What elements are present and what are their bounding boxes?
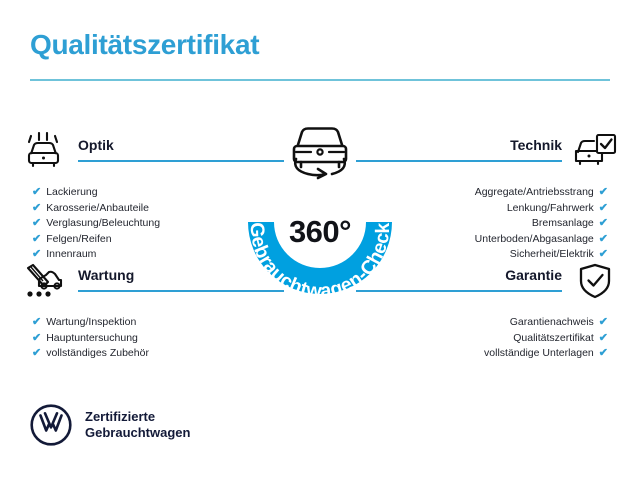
check-icon: ✔ xyxy=(32,187,41,198)
list-item-label: Hauptuntersuchung xyxy=(46,331,138,347)
shield-check-icon xyxy=(572,262,618,302)
page-title: Qualitätszertifikat xyxy=(30,30,610,61)
footer-text: Zertifizierte Gebrauchtwagen xyxy=(85,409,190,441)
check-icon: ✔ xyxy=(32,348,41,359)
check-icon: ✔ xyxy=(32,234,41,245)
list-item-label: Bremsanlage xyxy=(532,216,594,232)
car-shine-icon xyxy=(22,132,68,172)
list-item: ✔Hauptuntersuchung xyxy=(32,331,284,347)
badge-degrees-label: 360° xyxy=(222,216,418,247)
footer: Zertifizierte Gebrauchtwagen xyxy=(30,404,190,446)
list-item-label: Lenkung/Fahrwerk xyxy=(507,201,594,217)
list-item-label: Innenraum xyxy=(46,247,96,263)
check-icon: ✔ xyxy=(599,203,608,214)
check-icon: ✔ xyxy=(32,218,41,229)
list-item: ✔vollständige Unterlagen xyxy=(356,346,608,362)
list-item-label: Lackierung xyxy=(46,185,97,201)
list-item: ✔Qualitätszertifikat xyxy=(356,331,608,347)
list-item: ✔vollständiges Zubehör xyxy=(32,346,284,362)
list-item-label: Qualitätszertifikat xyxy=(513,331,594,347)
check-icon: ✔ xyxy=(32,333,41,344)
360-check-badge: Gebrauchtwagen-Check 360° xyxy=(222,118,418,318)
check-icon: ✔ xyxy=(599,218,608,229)
car-wrench-icon xyxy=(22,262,68,302)
check-icon: ✔ xyxy=(599,348,608,359)
car-checkbox-icon xyxy=(572,132,618,172)
check-icon: ✔ xyxy=(599,249,608,260)
check-icon: ✔ xyxy=(32,203,41,214)
list-item-label: Wartung/Inspektion xyxy=(46,315,136,331)
section-garantie-list: ✔Garantienachweis ✔Qualitätszertifikat ✔… xyxy=(356,315,618,362)
list-item-label: Aggregate/Antriebsstrang xyxy=(475,185,594,201)
list-item-label: Unterboden/Abgasanlage xyxy=(475,232,594,248)
list-item-label: Sicherheit/Elektrik xyxy=(510,247,594,263)
list-item-label: vollständige Unterlagen xyxy=(484,346,594,362)
check-icon: ✔ xyxy=(599,187,608,198)
check-icon: ✔ xyxy=(599,333,608,344)
check-icon: ✔ xyxy=(599,317,608,328)
list-item-label: vollständiges Zubehör xyxy=(46,346,149,362)
check-icon: ✔ xyxy=(32,317,41,328)
section-wartung-list: ✔Wartung/Inspektion ✔Hauptuntersuchung ✔… xyxy=(22,315,284,362)
car-rotation-icon xyxy=(284,118,356,180)
list-item-label: Garantienachweis xyxy=(510,315,594,331)
check-icon: ✔ xyxy=(32,249,41,260)
vw-roundel-logo xyxy=(30,404,72,446)
list-item-label: Karosserie/Anbauteile xyxy=(46,201,149,217)
header: Qualitätszertifikat xyxy=(30,30,610,81)
title-divider xyxy=(30,79,610,81)
check-icon: ✔ xyxy=(599,234,608,245)
list-item-label: Verglasung/Beleuchtung xyxy=(46,216,160,232)
list-item-label: Felgen/Reifen xyxy=(46,232,111,248)
